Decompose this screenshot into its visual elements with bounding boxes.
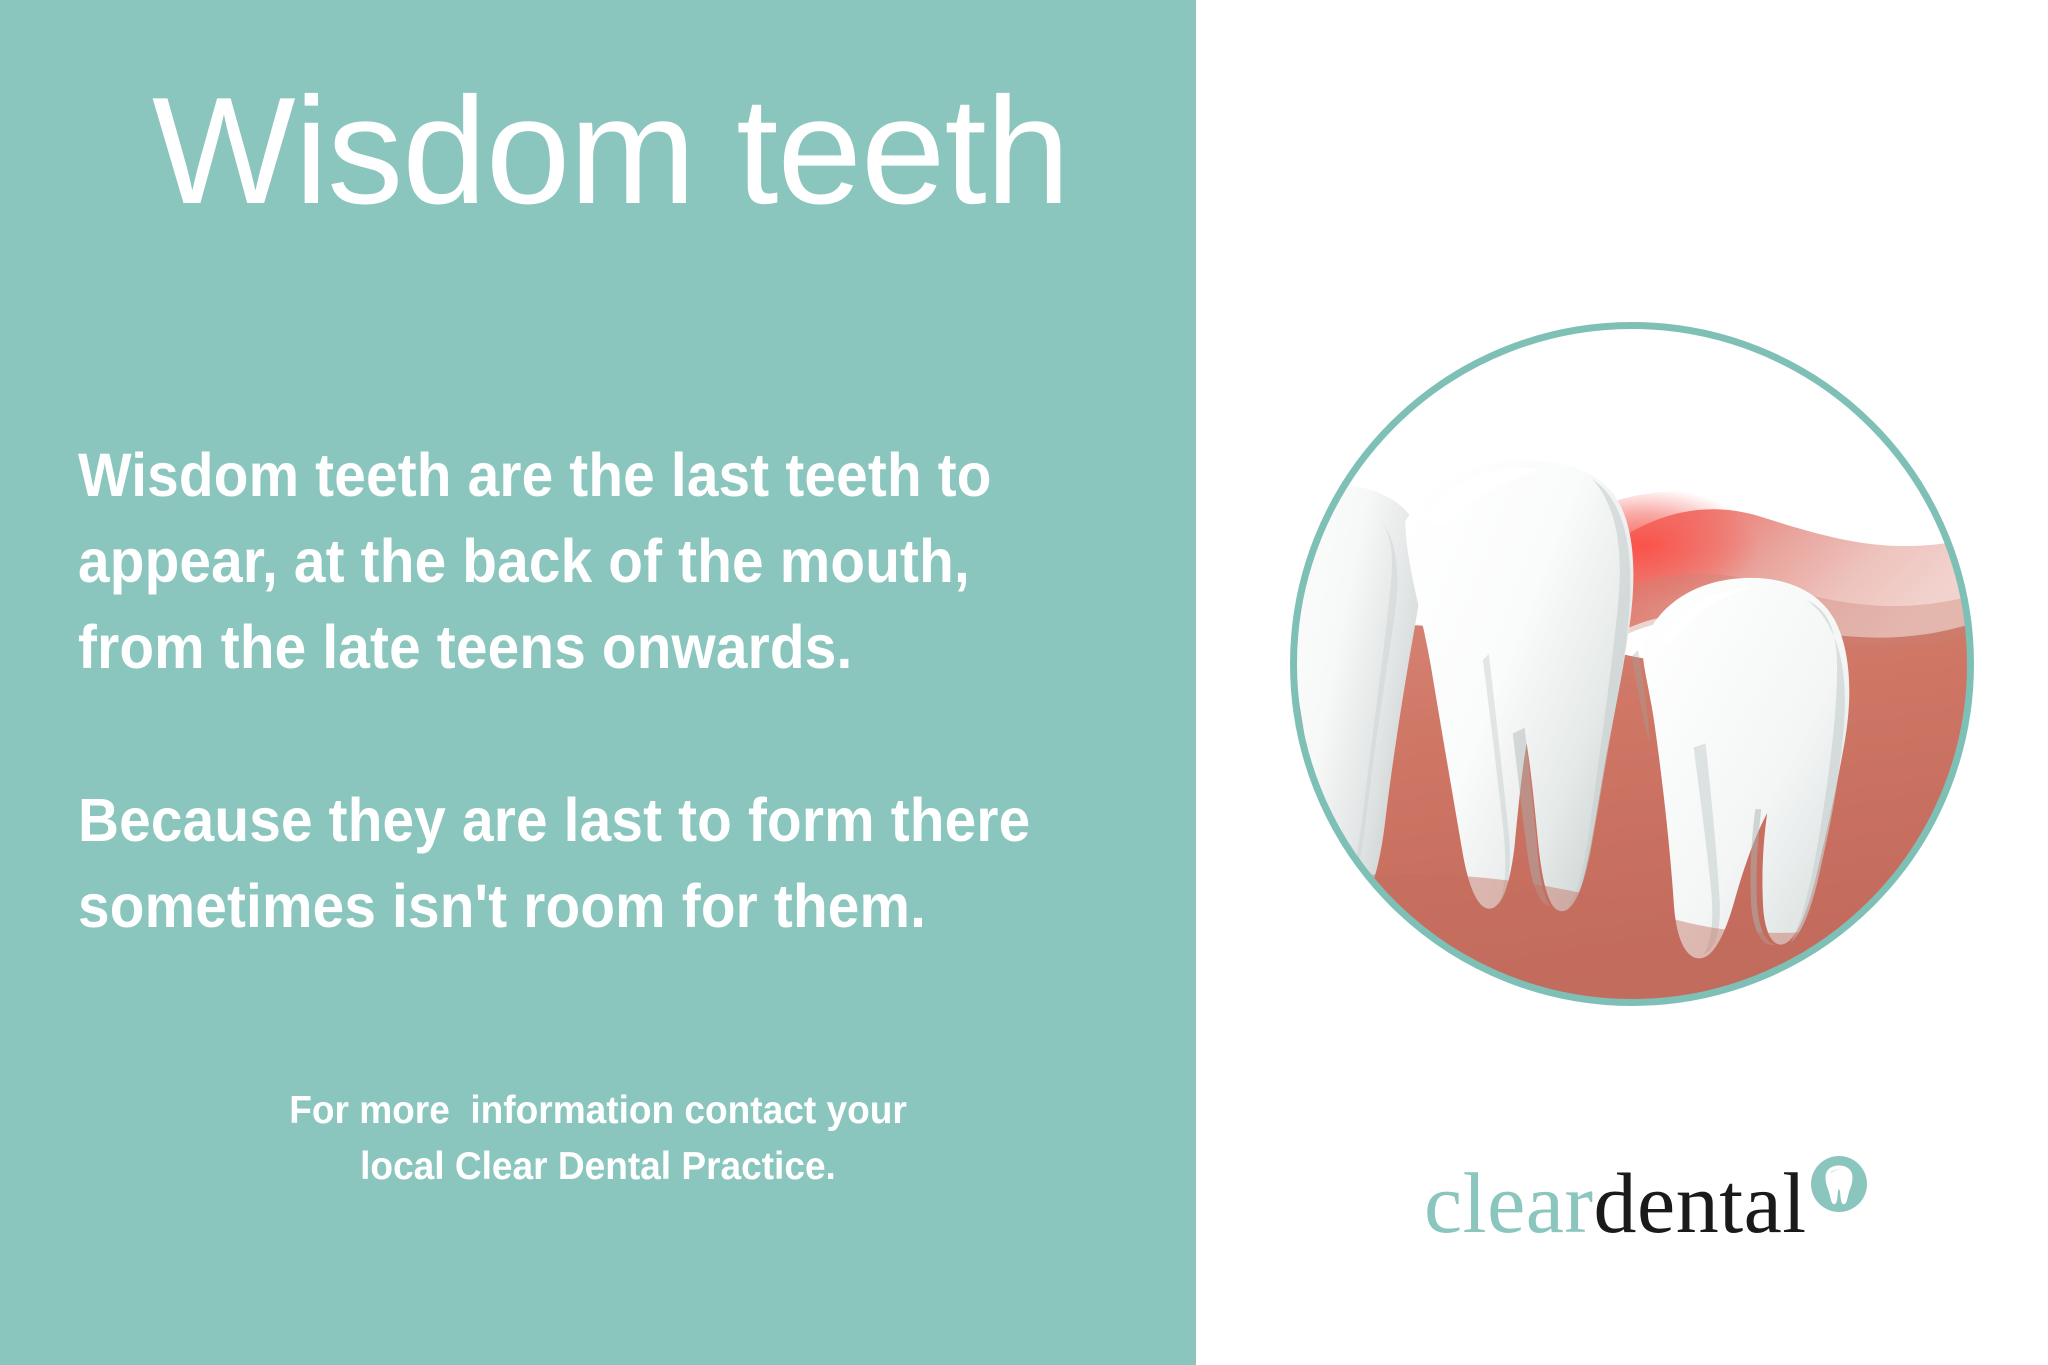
illustration-clip bbox=[1294, 326, 1970, 1002]
body-paragraph-1: Wisdom teeth are the last teeth to appea… bbox=[78, 432, 1082, 690]
contact-note: For more information contact your local … bbox=[104, 1083, 1092, 1195]
impacted-wisdom-tooth-icon bbox=[1294, 326, 1970, 1002]
logo-word-dental: dental bbox=[1594, 1160, 1807, 1246]
body-copy: Wisdom teeth are the last teeth to appea… bbox=[78, 432, 1158, 949]
tooth-icon bbox=[1811, 1156, 1867, 1212]
cleardental-logo[interactable]: clear dental bbox=[1424, 1160, 1867, 1250]
page-title: Wisdom teeth bbox=[152, 75, 1069, 227]
logo-word-clear: clear bbox=[1424, 1160, 1594, 1246]
left-content-panel: Wisdom teeth Wisdom teeth are the last t… bbox=[0, 0, 1196, 1365]
poster-canvas: Wisdom teeth Wisdom teeth are the last t… bbox=[0, 0, 2048, 1365]
illustration-circle bbox=[1290, 322, 1974, 1006]
body-paragraph-2: Because they are last to form there some… bbox=[78, 777, 1082, 949]
